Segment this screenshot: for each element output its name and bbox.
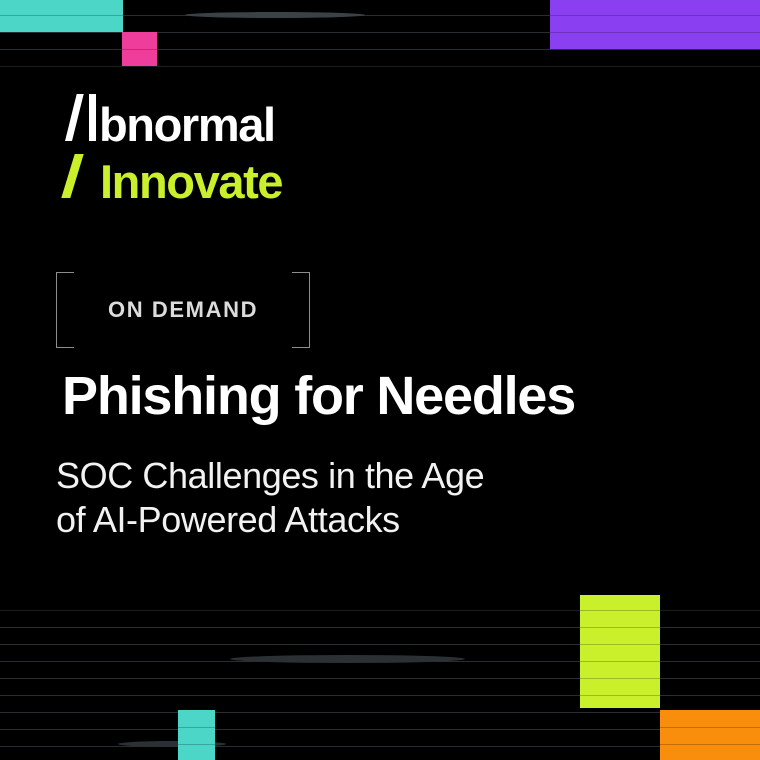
purple-block-top-right xyxy=(550,0,760,49)
promo-card: bnormal Innovate ON DEMAND Phishing for … xyxy=(0,0,760,760)
orange-block-bottom xyxy=(660,710,760,760)
slash-icon xyxy=(64,154,84,198)
scanline xyxy=(0,729,760,730)
page-subtitle-line-2: of AI-Powered Attacks xyxy=(56,498,696,542)
bracket-left-icon xyxy=(56,272,74,348)
logo-wordmark-abnormal: bnormal xyxy=(99,101,275,148)
logo-line-abnormal: bnormal xyxy=(64,95,484,148)
streak-top xyxy=(185,12,365,18)
scanline xyxy=(0,712,760,713)
teal-block-bottom xyxy=(178,710,215,760)
teal-block-top-left xyxy=(0,0,123,32)
scanline xyxy=(0,49,760,50)
pink-block-top xyxy=(122,32,157,66)
streak-mid-lower xyxy=(230,655,465,663)
lime-block-bottom xyxy=(580,595,660,708)
logo-wordmark-innovate: Innovate xyxy=(100,158,282,205)
page-subtitle-line-1: SOC Challenges in the Age xyxy=(56,454,696,498)
page-subtitle: SOC Challenges in the Age of AI-Powered … xyxy=(56,454,696,542)
scanline xyxy=(0,746,760,747)
abnormal-innovate-logo: bnormal Innovate xyxy=(64,95,484,205)
page-title: Phishing for Needles xyxy=(62,368,722,425)
abnormal-a-mark-icon xyxy=(64,95,98,141)
status-badge-label: ON DEMAND xyxy=(74,297,292,323)
scanline xyxy=(0,66,760,67)
bracket-right-icon xyxy=(292,272,310,348)
logo-line-innovate: Innovate xyxy=(64,154,484,205)
status-badge: ON DEMAND xyxy=(56,272,310,348)
